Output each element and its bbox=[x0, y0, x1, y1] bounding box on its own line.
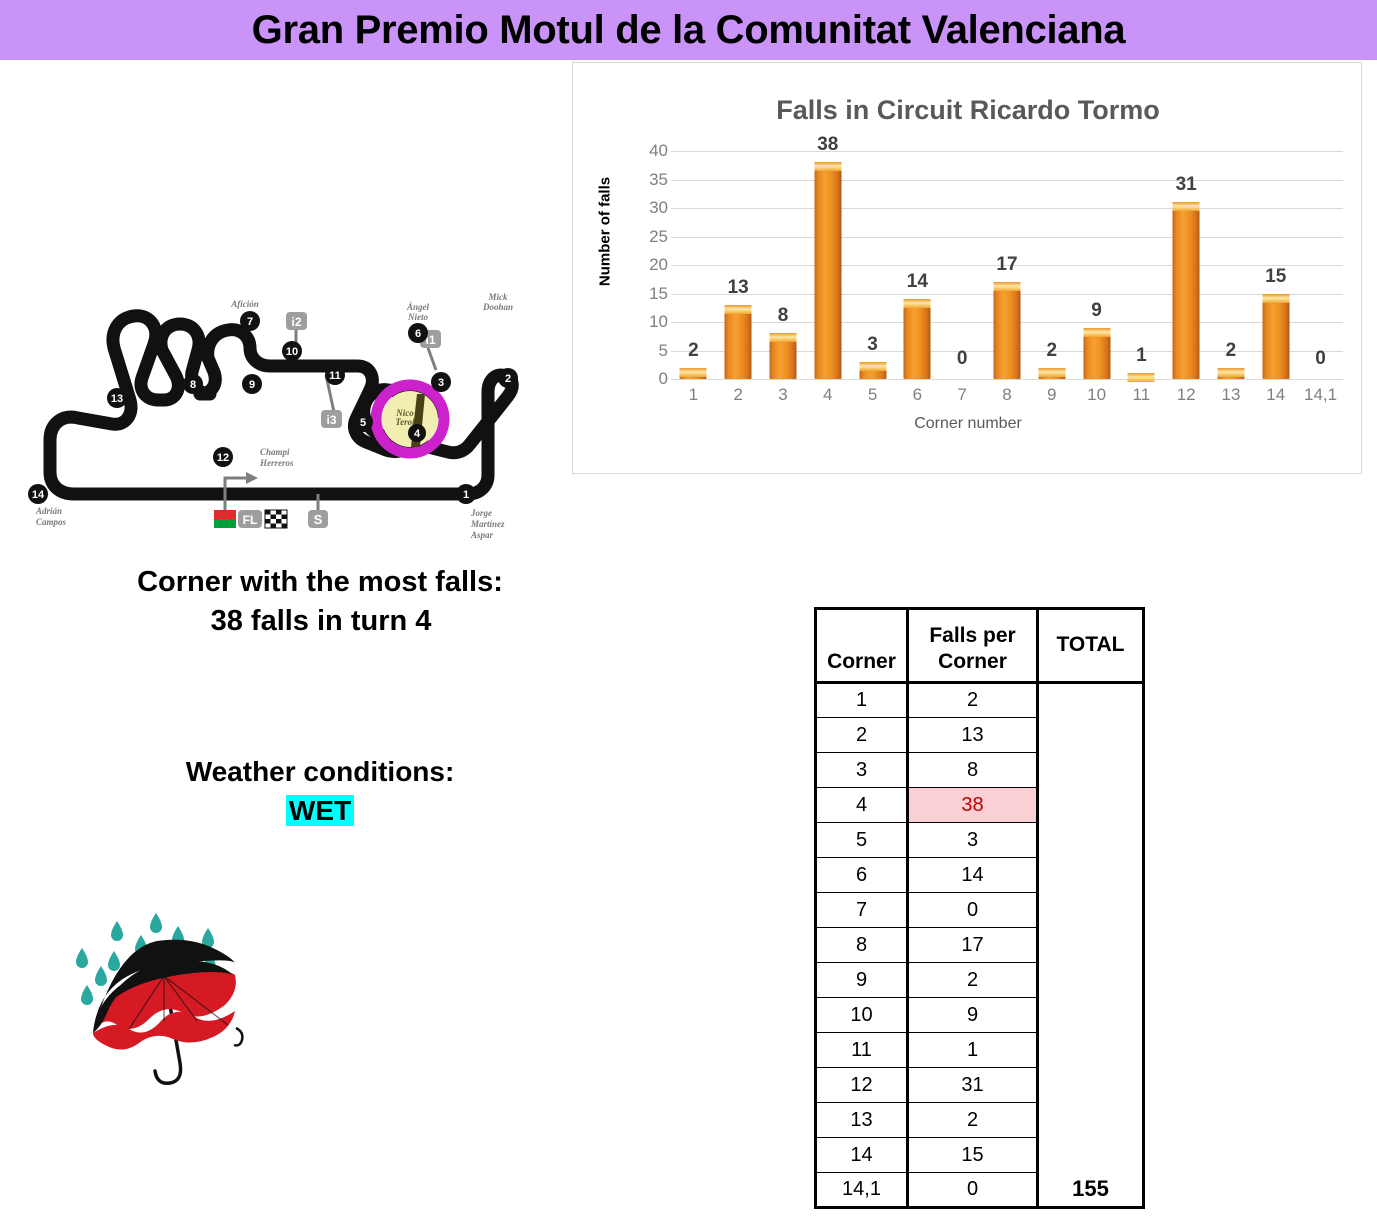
chart-x-tick-label: 5 bbox=[850, 385, 895, 405]
chart-x-tick-label: 9 bbox=[1029, 385, 1074, 405]
chart-bar bbox=[1262, 294, 1289, 380]
chart-y-tick-label: 40 bbox=[613, 141, 668, 161]
table-cell-total-empty bbox=[1038, 683, 1144, 1173]
chart-bar-cap bbox=[814, 162, 841, 171]
chart-x-tick-label: 4 bbox=[805, 385, 850, 405]
chart-bar-value-label: 3 bbox=[867, 334, 878, 356]
svg-text:10: 10 bbox=[286, 346, 298, 358]
weather-value-badge: WET bbox=[286, 795, 354, 826]
chart-bar-cap bbox=[680, 368, 707, 377]
chart-bar-value-label: 0 bbox=[957, 348, 968, 370]
svg-text:FL: FL bbox=[243, 513, 258, 527]
chart-y-axis-title: Number of falls bbox=[597, 142, 614, 322]
svg-text:12: 12 bbox=[217, 452, 229, 464]
table-cell-corner: 5 bbox=[816, 823, 908, 858]
chart-bar-slot: 13 bbox=[716, 151, 761, 379]
svg-text:Champi: Champi bbox=[260, 447, 290, 457]
chart-bar-slot: 2 bbox=[1029, 151, 1074, 379]
table-cell-falls: 2 bbox=[908, 683, 1038, 718]
svg-text:7: 7 bbox=[247, 316, 253, 328]
chart-bar-slot: 0 bbox=[940, 151, 985, 379]
chart-x-tick-label: 14 bbox=[1253, 385, 1298, 405]
chart-plot-area: 213838314017291312150 bbox=[671, 151, 1343, 379]
table-cell-falls: 0 bbox=[908, 1173, 1038, 1208]
chart-x-tick-label: 13 bbox=[1209, 385, 1254, 405]
chart-x-tick-label: 1 bbox=[671, 385, 716, 405]
svg-text:Campos: Campos bbox=[36, 517, 67, 527]
weather-value-wrapper: WET bbox=[60, 791, 580, 830]
most-falls-value: 38 falls in turn 4 bbox=[60, 602, 580, 641]
table-header-falls-line1: Falls per bbox=[929, 624, 1015, 647]
chart-x-tick-label: 11 bbox=[1119, 385, 1164, 405]
table-cell-corner: 7 bbox=[816, 893, 908, 928]
table-header-corner: Corner bbox=[816, 609, 908, 683]
svg-text:8: 8 bbox=[190, 379, 196, 391]
weather-label: Weather conditions: bbox=[60, 752, 580, 791]
table-body: 1221338438536147081792109111123113214151… bbox=[816, 683, 1144, 1208]
chart-x-tick-label: 14,1 bbox=[1298, 385, 1343, 405]
chart-bar-value-label: 15 bbox=[1265, 266, 1286, 288]
svg-text:i3: i3 bbox=[326, 413, 336, 427]
chart-bar-value-label: 0 bbox=[1315, 348, 1326, 370]
chart-bar-cap bbox=[1038, 368, 1065, 377]
chart-bar-slot: 14 bbox=[895, 151, 940, 379]
chart-y-tick-label: 10 bbox=[613, 312, 668, 332]
chart-y-axis-ticks: 0510152025303540 bbox=[613, 151, 668, 379]
table-cell-falls: 0 bbox=[908, 893, 1038, 928]
chart-bar-value-label: 31 bbox=[1176, 174, 1197, 196]
chart-bar bbox=[1217, 368, 1244, 379]
svg-text:14: 14 bbox=[32, 489, 45, 501]
table-cell-corner: 12 bbox=[816, 1068, 908, 1103]
chart-x-tick-label: 10 bbox=[1074, 385, 1119, 405]
chart-bar-value-label: 17 bbox=[996, 254, 1017, 276]
chart-bar-value-label: 9 bbox=[1091, 300, 1102, 322]
chart-bar bbox=[1128, 373, 1155, 379]
chart-bar-value-label: 2 bbox=[688, 340, 699, 362]
svg-text:3: 3 bbox=[438, 377, 444, 389]
table-cell-corner: 1 bbox=[816, 683, 908, 718]
svg-text:Aspar: Aspar bbox=[470, 530, 494, 540]
table-cell-falls: 2 bbox=[908, 1103, 1038, 1138]
chart-y-tick-label: 0 bbox=[613, 369, 668, 389]
svg-text:4: 4 bbox=[414, 428, 421, 440]
table-cell-corner: 14,1 bbox=[816, 1173, 908, 1208]
table-cell-falls: 13 bbox=[908, 718, 1038, 753]
chart-bar bbox=[725, 305, 752, 379]
table-cell-falls: 8 bbox=[908, 753, 1038, 788]
umbrella-rain-icon bbox=[60, 888, 270, 1103]
chart-bar-cap bbox=[1262, 294, 1289, 303]
chart-x-tick-label: 12 bbox=[1164, 385, 1209, 405]
chart-bar-cap bbox=[769, 333, 796, 342]
chart-bar-slot: 2 bbox=[671, 151, 716, 379]
svg-text:2: 2 bbox=[505, 373, 511, 385]
chart-x-tick-label: 8 bbox=[985, 385, 1030, 405]
chart-x-tick-label: 7 bbox=[940, 385, 985, 405]
chart-bar-cap bbox=[1173, 202, 1200, 211]
table-cell-falls: 31 bbox=[908, 1068, 1038, 1103]
chart-bar bbox=[814, 162, 841, 379]
table-header-row: Corner Falls per Corner TOTAL bbox=[816, 609, 1144, 683]
chart-bar-slot: 1 bbox=[1119, 151, 1164, 379]
table-cell-corner: 11 bbox=[816, 1033, 908, 1068]
start-flag-green bbox=[214, 519, 236, 528]
chart-bar-slot: 15 bbox=[1253, 151, 1298, 379]
checkered-flag-icon bbox=[265, 510, 287, 528]
chart-bar bbox=[993, 282, 1020, 379]
svg-text:5: 5 bbox=[360, 417, 366, 429]
chart-bar bbox=[859, 362, 886, 379]
chart-bar-slot: 0 bbox=[1298, 151, 1343, 379]
table-cell-corner: 6 bbox=[816, 858, 908, 893]
table-cell-falls: 9 bbox=[908, 998, 1038, 1033]
chart-bar-value-label: 8 bbox=[778, 305, 789, 327]
table-cell-falls: 3 bbox=[908, 823, 1038, 858]
svg-text:13: 13 bbox=[111, 393, 123, 405]
chart-bar-value-label: 14 bbox=[907, 271, 928, 293]
chart-bar bbox=[1038, 368, 1065, 379]
svg-text:Herreros: Herreros bbox=[259, 458, 294, 468]
chart-bar-slot: 31 bbox=[1164, 151, 1209, 379]
chart-bar-value-label: 2 bbox=[1226, 340, 1237, 362]
circuit-map: FL S i2 i1 i3 Nico Terol 1 2 3 4 5 6 7 8… bbox=[18, 272, 538, 552]
table-row: 12 bbox=[816, 683, 1144, 718]
svg-text:Afición: Afición bbox=[230, 299, 259, 309]
svg-text:Ángel: Ángel bbox=[406, 302, 430, 312]
svg-text:9: 9 bbox=[249, 379, 255, 391]
chart-bar-slot: 38 bbox=[805, 151, 850, 379]
table-cell-falls-highlighted: 38 bbox=[908, 788, 1038, 823]
chart-title: Falls in Circuit Ricardo Tormo bbox=[573, 95, 1363, 126]
most-falls-label: Corner with the most falls: bbox=[60, 563, 580, 602]
chart-bar-slot: 2 bbox=[1209, 151, 1254, 379]
table-header-falls: Falls per Corner bbox=[908, 609, 1038, 683]
chart-y-tick-label: 35 bbox=[613, 170, 668, 190]
chart-bar-slot: 17 bbox=[985, 151, 1030, 379]
chart-bar-value-label: 13 bbox=[728, 277, 749, 299]
table-cell-corner: 10 bbox=[816, 998, 908, 1033]
chart-bar-value-label: 38 bbox=[817, 134, 838, 156]
chart-bar bbox=[680, 368, 707, 379]
svg-text:11: 11 bbox=[329, 370, 341, 382]
chart-bar-cap bbox=[1217, 368, 1244, 377]
chart-bar bbox=[904, 299, 931, 379]
chart-bar-cap bbox=[993, 282, 1020, 291]
chart-x-tick-label: 6 bbox=[895, 385, 940, 405]
table-cell-corner: 13 bbox=[816, 1103, 908, 1138]
chart-bar-value-label: 2 bbox=[1046, 340, 1057, 362]
table-row: 14,10155 bbox=[816, 1173, 1144, 1208]
table-cell-corner: 3 bbox=[816, 753, 908, 788]
chart-bar-cap bbox=[859, 362, 886, 371]
chart-bar-cap bbox=[725, 305, 752, 314]
falls-bar-chart: Falls in Circuit Ricardo Tormo Number of… bbox=[572, 62, 1362, 474]
svg-text:Mick: Mick bbox=[488, 292, 508, 302]
svg-text:6: 6 bbox=[415, 328, 421, 340]
chart-bar-slot: 3 bbox=[850, 151, 895, 379]
chart-bar bbox=[1083, 328, 1110, 379]
table-header-total: TOTAL bbox=[1038, 609, 1144, 683]
weather-summary: Weather conditions: WET bbox=[60, 752, 580, 830]
table-cell-corner: 14 bbox=[816, 1138, 908, 1173]
chart-bar-slot: 8 bbox=[761, 151, 806, 379]
chart-bar-slot: 9 bbox=[1074, 151, 1119, 379]
table-cell-falls: 2 bbox=[908, 963, 1038, 998]
svg-text:Adrián: Adrián bbox=[35, 506, 62, 516]
table-cell-corner: 9 bbox=[816, 963, 908, 998]
page-title: Gran Premio Motul de la Comunitat Valenc… bbox=[0, 8, 1377, 53]
most-falls-summary: Corner with the most falls: 38 falls in … bbox=[60, 563, 580, 641]
chart-y-tick-label: 20 bbox=[613, 255, 668, 275]
chart-bar-cap bbox=[1083, 328, 1110, 337]
chart-y-tick-label: 30 bbox=[613, 198, 668, 218]
chart-bar bbox=[769, 333, 796, 379]
chart-x-axis-ticks: 123456789101112131414,1 bbox=[671, 385, 1343, 405]
falls-per-corner-table: Corner Falls per Corner TOTAL 1221338438… bbox=[814, 607, 1145, 1209]
chart-bar-value-label: 1 bbox=[1136, 345, 1147, 367]
chart-y-tick-label: 5 bbox=[613, 341, 668, 361]
chart-bar-cap bbox=[1128, 373, 1155, 382]
chart-x-tick-label: 2 bbox=[716, 385, 761, 405]
table-header-falls-line2: Corner bbox=[938, 650, 1007, 673]
svg-text:S: S bbox=[314, 512, 323, 527]
chart-bar bbox=[1173, 202, 1200, 379]
header-band: Gran Premio Motul de la Comunitat Valenc… bbox=[0, 0, 1377, 60]
start-flag-red bbox=[214, 510, 236, 519]
table-cell-corner: 8 bbox=[816, 928, 908, 963]
chart-bars: 213838314017291312150 bbox=[671, 151, 1343, 379]
svg-text:Doohan: Doohan bbox=[482, 302, 513, 312]
chart-y-tick-label: 15 bbox=[613, 284, 668, 304]
chart-y-tick-label: 25 bbox=[613, 227, 668, 247]
table-cell-falls: 14 bbox=[908, 858, 1038, 893]
table-cell-corner: 2 bbox=[816, 718, 908, 753]
chart-gridline bbox=[671, 379, 1343, 380]
table-cell-falls: 1 bbox=[908, 1033, 1038, 1068]
svg-text:1: 1 bbox=[463, 489, 469, 501]
table-cell-total-value: 155 bbox=[1038, 1173, 1144, 1208]
svg-text:Jorge: Jorge bbox=[470, 508, 492, 518]
table-cell-corner: 4 bbox=[816, 788, 908, 823]
chart-bar-cap bbox=[904, 299, 931, 308]
svg-text:i2: i2 bbox=[291, 315, 301, 329]
svg-text:Martínez: Martínez bbox=[470, 519, 505, 529]
table-cell-falls: 17 bbox=[908, 928, 1038, 963]
svg-text:Nieto: Nieto bbox=[407, 312, 428, 322]
chart-x-axis-title: Corner number bbox=[573, 415, 1363, 433]
table-cell-falls: 15 bbox=[908, 1138, 1038, 1173]
chart-x-tick-label: 3 bbox=[761, 385, 806, 405]
